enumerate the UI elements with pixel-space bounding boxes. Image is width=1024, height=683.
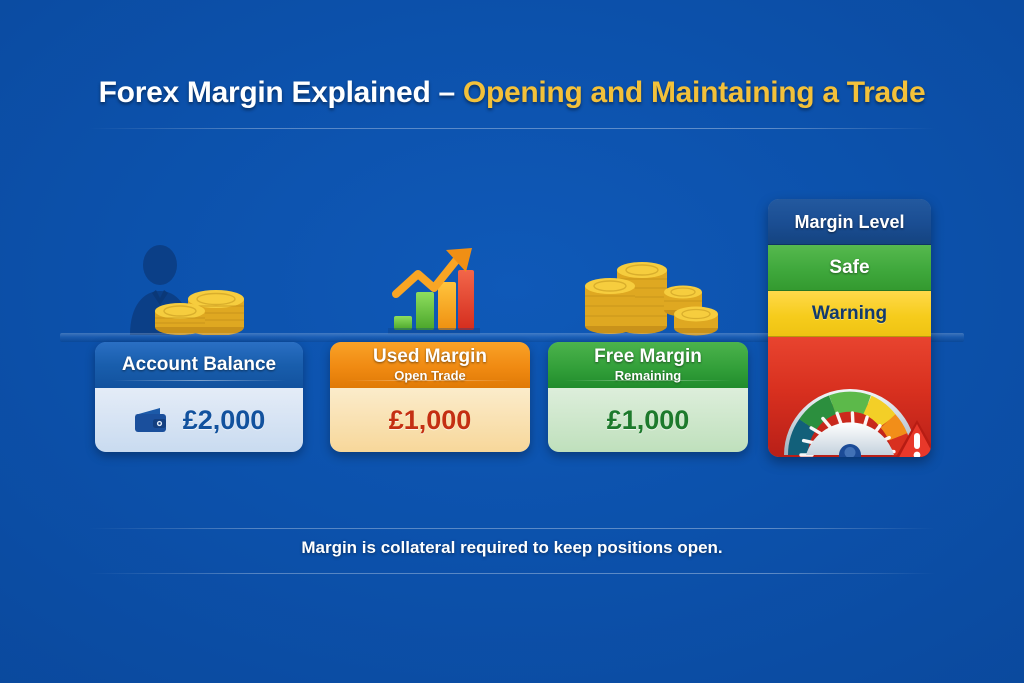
card-title: Free Margin xyxy=(594,347,702,367)
margin-level-panel[interactable]: Margin Level Safe Warning xyxy=(768,199,931,457)
page-title: Forex Margin Explained – Opening and Mai… xyxy=(0,76,1024,110)
card-value: £1,000 xyxy=(607,405,690,436)
band-label-safe: Safe xyxy=(829,257,869,279)
margin-band-warning: Warning xyxy=(768,291,931,337)
card-body: £2,000 xyxy=(95,388,303,452)
card-account-balance[interactable]: Account Balance £2,000 xyxy=(95,342,303,452)
growth-bar-chart-icon xyxy=(388,244,480,334)
margin-level-title: Margin Level xyxy=(794,212,904,233)
title-divider xyxy=(88,128,936,129)
coin-stacks-icon xyxy=(580,258,722,336)
card-header: Free Margin Remaining xyxy=(548,342,748,388)
card-subtitle: Open Trade xyxy=(394,368,466,384)
footer-note: Margin is collateral required to keep po… xyxy=(0,538,1024,558)
card-body: £1,000 xyxy=(548,388,748,452)
card-header: Account Balance xyxy=(95,342,303,388)
card-used-margin[interactable]: Used Margin Open Trade £1,000 xyxy=(330,342,530,452)
card-title: Account Balance xyxy=(122,355,276,375)
margin-level-header: Margin Level xyxy=(768,199,931,245)
card-value: £2,000 xyxy=(183,405,266,436)
title-accent: Opening and Maintaining a Trade xyxy=(463,76,925,109)
footer-divider-bottom xyxy=(88,573,936,574)
card-free-margin[interactable]: Free Margin Remaining £1,000 xyxy=(548,342,748,452)
margin-band-safe: Safe xyxy=(768,245,931,291)
band-label-warning: Warning xyxy=(812,303,887,325)
infographic-canvas: Forex Margin Explained – Opening and Mai… xyxy=(0,0,1024,683)
trader-with-coins-icon xyxy=(112,243,262,335)
card-value: £1,000 xyxy=(389,405,472,436)
card-body: £1,000 xyxy=(330,388,530,452)
title-primary: Forex Margin Explained – xyxy=(99,76,463,109)
card-subtitle: Remaining xyxy=(615,368,681,384)
card-title: Used Margin xyxy=(373,347,487,367)
wallet-icon xyxy=(133,406,171,434)
card-header: Used Margin Open Trade xyxy=(330,342,530,388)
warning-triangle-icon xyxy=(891,417,931,457)
footer-divider-top xyxy=(88,528,936,529)
margin-band-danger xyxy=(768,337,931,457)
